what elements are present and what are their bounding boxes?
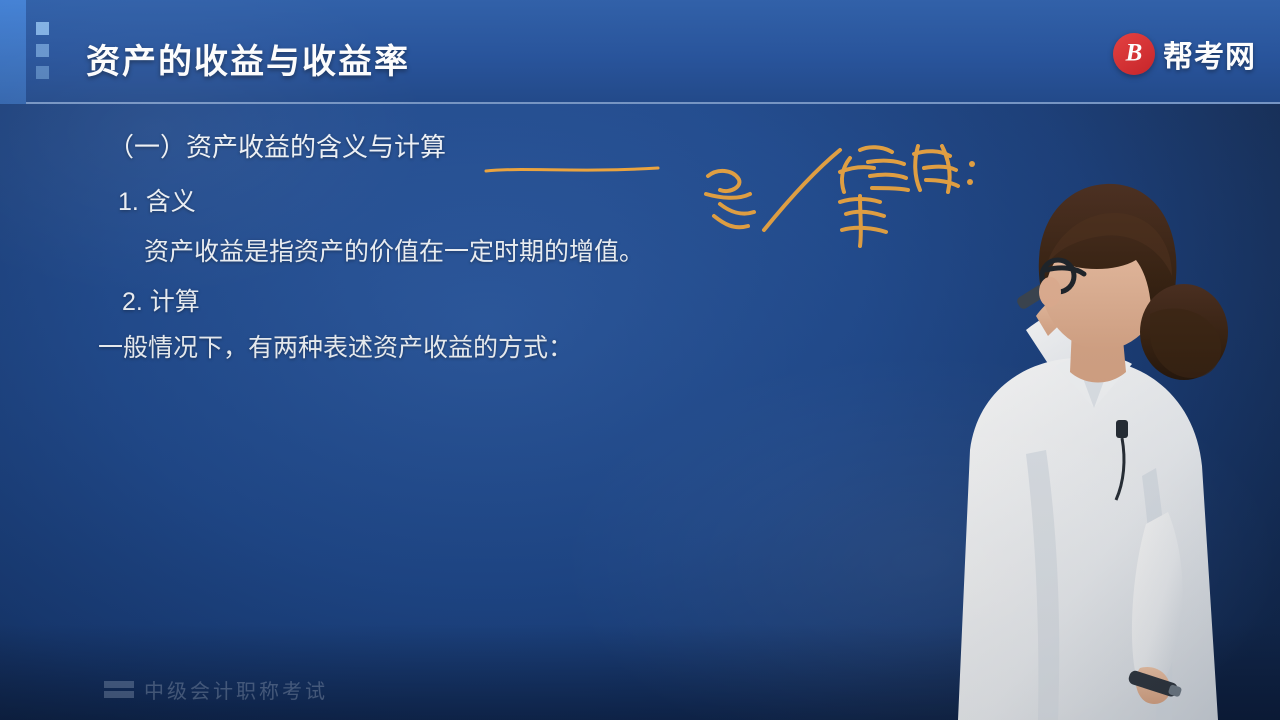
underline-annotation-icon xyxy=(484,165,660,174)
header-accent-bar xyxy=(0,0,26,104)
brand-logo[interactable]: B 帮考网 xyxy=(1113,32,1256,76)
slide-line-item-2: 2. 计算 xyxy=(122,290,200,315)
footer-watermark: 中级会计职称考试 xyxy=(104,675,328,704)
watermark-text: 中级会计职称考试 xyxy=(144,675,328,704)
bars-logo-icon xyxy=(104,681,134,698)
slide-line-item-1: 1. 含义 xyxy=(118,190,196,215)
slide-line-heading: （一）资产收益的含义与计算 xyxy=(108,134,446,160)
lecture-video-frame: 资产的收益与收益率 B 帮考网 （一）资产收益的含义与计算 1. 含义 资产收益… xyxy=(0,0,1280,720)
logo-badge-icon: B xyxy=(1113,33,1155,75)
logo-letter: B xyxy=(1113,39,1155,67)
brand-name: 帮考网 xyxy=(1163,32,1256,76)
slide-line-definition: 资产收益是指资产的价值在一定时期的增值。 xyxy=(144,240,644,265)
squares-decor-icon xyxy=(36,22,49,79)
bottom-vignette xyxy=(0,624,1280,720)
slide-header: 资产的收益与收益率 xyxy=(0,0,1280,104)
handwriting-annotation-icon xyxy=(690,120,990,280)
page-title: 资产的收益与收益率 xyxy=(86,34,410,83)
instructor-figure xyxy=(850,120,1280,720)
slide-line-note: 一般情况下，有两种表述资产收益的方式： xyxy=(98,336,573,361)
